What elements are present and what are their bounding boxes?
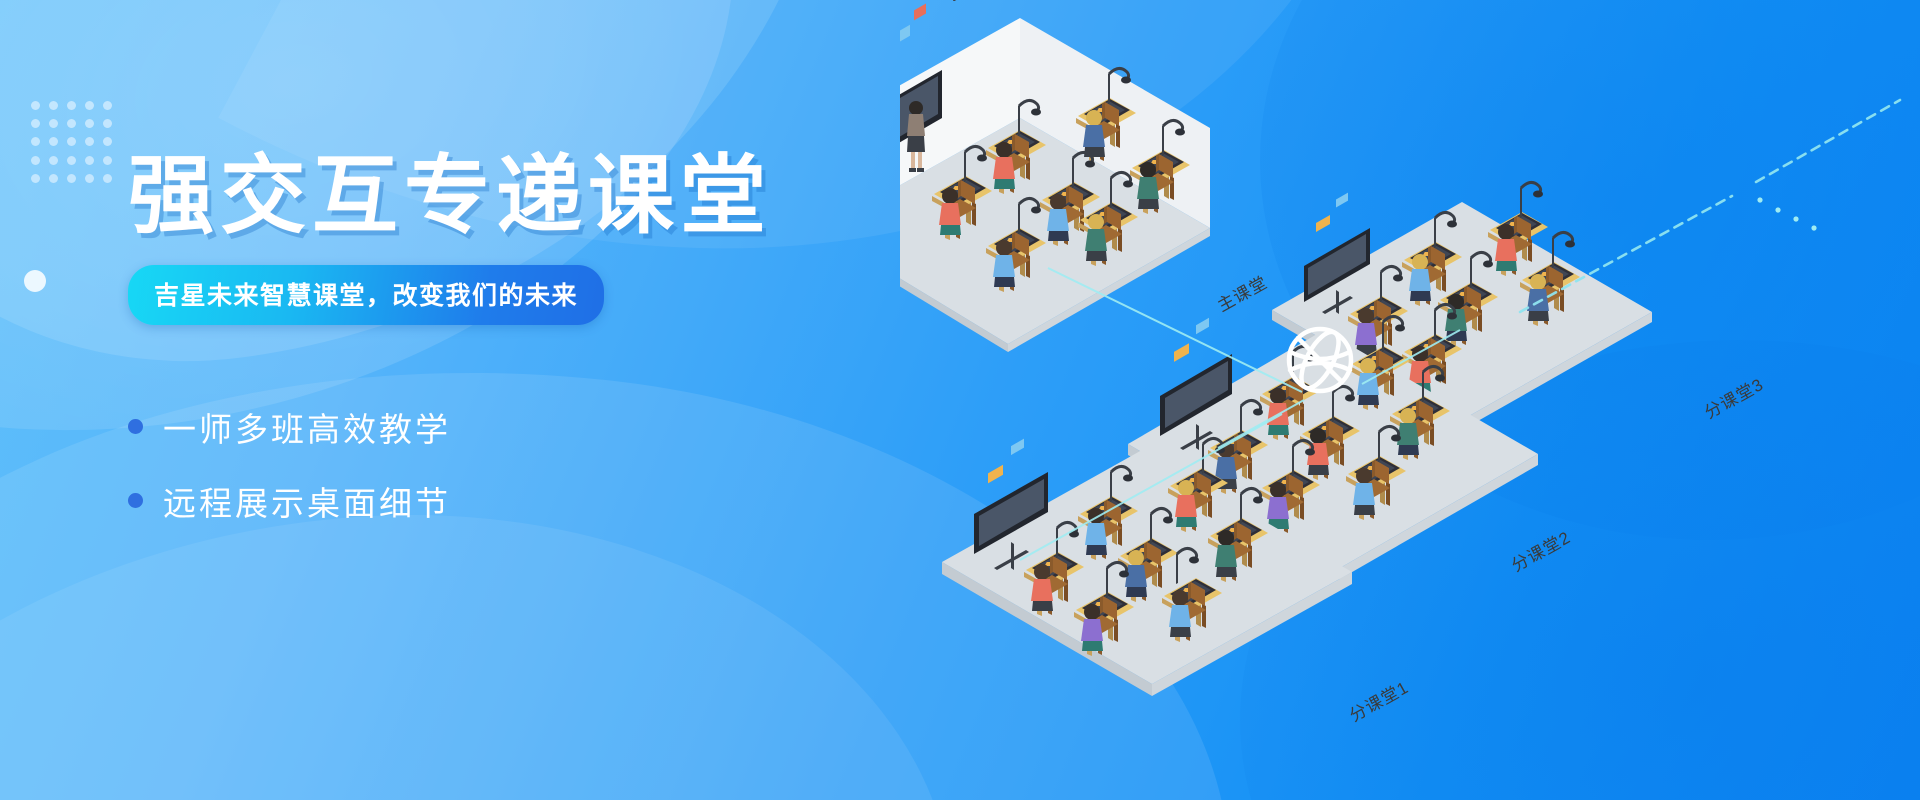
isometric-classroom-illustration: 主课堂 分课堂3 分课堂2 分课堂1 <box>900 0 1920 800</box>
feature-label: 远程展示桌面细节 <box>163 477 451 525</box>
bullet-dot-icon <box>128 493 143 508</box>
feature-label: 一师多班高效教学 <box>163 403 451 451</box>
accent-dot-decoration <box>24 270 46 292</box>
room-main <box>900 0 1210 352</box>
list-item: 一师多班高效教学 <box>128 403 828 451</box>
feature-list: 一师多班高效教学 远程展示桌面细节 <box>128 403 828 525</box>
network-dotted-arc <box>1757 197 1816 230</box>
network-dashed-lines <box>1520 100 1900 312</box>
list-item: 远程展示桌面细节 <box>128 477 828 525</box>
banner-copy: 强交互专递课堂 吉星未来智慧课堂，改变我们的未来 一师多班高效教学 远程展示桌面… <box>128 150 828 551</box>
bullet-dot-icon <box>128 419 143 434</box>
dot-grid-decoration <box>26 96 116 188</box>
page-title: 强交互专递课堂 <box>128 150 828 243</box>
promo-banner: 强交互专递课堂 吉星未来智慧课堂，改变我们的未来 一师多班高效教学 远程展示桌面… <box>0 0 1920 800</box>
subtitle-pill: 吉星未来智慧课堂，改变我们的未来 <box>128 265 604 325</box>
